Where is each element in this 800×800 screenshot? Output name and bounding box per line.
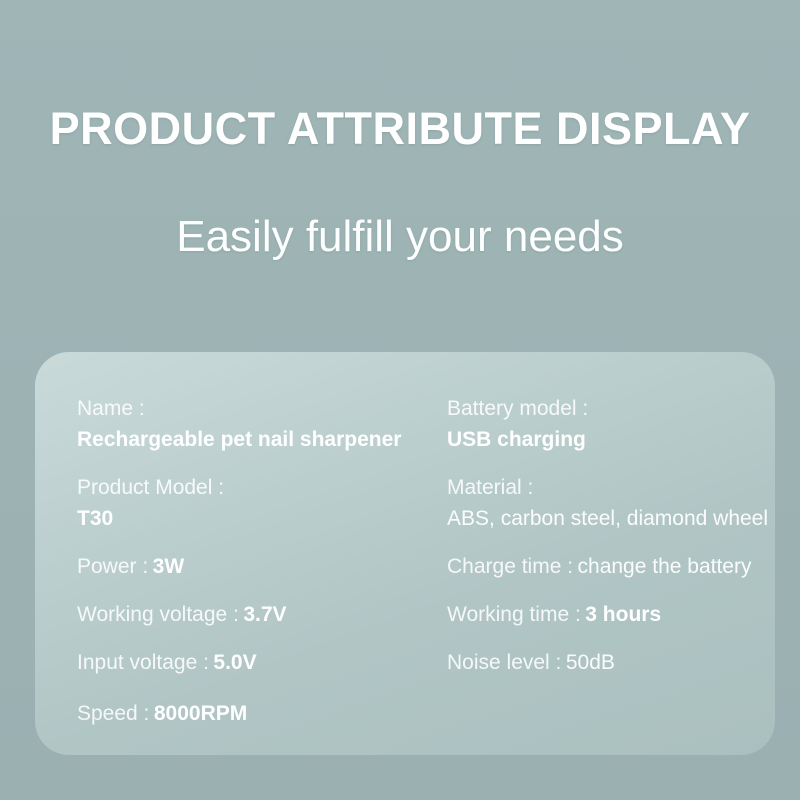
- attribute-label: Charge time :: [447, 555, 573, 578]
- attribute-row: Material : ABS, carbon steel, diamond wh…: [447, 475, 768, 533]
- attribute-row: Charge time : change the battery: [447, 554, 751, 581]
- attribute-row: Power : 3W: [77, 554, 184, 581]
- attribute-label: Name :: [77, 396, 401, 423]
- attribute-label: Noise level :: [447, 651, 561, 674]
- attribute-value: ABS, carbon steel, diamond wheel: [447, 506, 768, 533]
- attribute-value: USB charging: [447, 427, 588, 454]
- attribute-label: Battery model :: [447, 396, 588, 423]
- attribute-value: 5.0V: [213, 651, 256, 674]
- attribute-row: Speed : 8000RPM: [77, 701, 247, 728]
- attribute-label: Working voltage :: [77, 603, 239, 626]
- attribute-value: 8000RPM: [154, 702, 247, 725]
- attribute-row: Noise level : 50dB: [447, 650, 615, 677]
- page-title: PRODUCT ATTRIBUTE DISPLAY: [0, 104, 800, 154]
- product-attribute-page: PRODUCT ATTRIBUTE DISPLAY Easily fulfill…: [0, 0, 800, 800]
- attribute-row: Working time : 3 hours: [447, 602, 661, 629]
- attribute-label: Product Model :: [77, 475, 224, 502]
- attribute-label: Speed :: [77, 702, 149, 725]
- attribute-label: Input voltage :: [77, 651, 209, 674]
- attribute-value: 3.7V: [243, 603, 286, 626]
- attribute-value: Rechargeable pet nail sharpener: [77, 427, 401, 454]
- attribute-value: 3W: [153, 555, 185, 578]
- attribute-value: T30: [77, 506, 224, 533]
- attribute-label: Working time :: [447, 603, 581, 626]
- attribute-row: Battery model : USB charging: [447, 396, 588, 454]
- attribute-value: 50dB: [566, 651, 615, 674]
- attribute-value: 3 hours: [585, 603, 661, 626]
- attribute-row: Input voltage : 5.0V: [77, 650, 257, 677]
- attribute-row: Name : Rechargeable pet nail sharpener: [77, 396, 401, 454]
- attribute-row: Working voltage : 3.7V: [77, 602, 287, 629]
- page-subtitle: Easily fulfill your needs: [0, 212, 800, 263]
- attribute-value: change the battery: [578, 555, 752, 578]
- attributes-columns: Name : Rechargeable pet nail sharpener P…: [59, 382, 751, 731]
- attributes-card: Name : Rechargeable pet nail sharpener P…: [35, 352, 775, 755]
- attribute-label: Material :: [447, 475, 768, 502]
- attribute-label: Power :: [77, 555, 148, 578]
- attribute-row: Product Model : T30: [77, 475, 224, 533]
